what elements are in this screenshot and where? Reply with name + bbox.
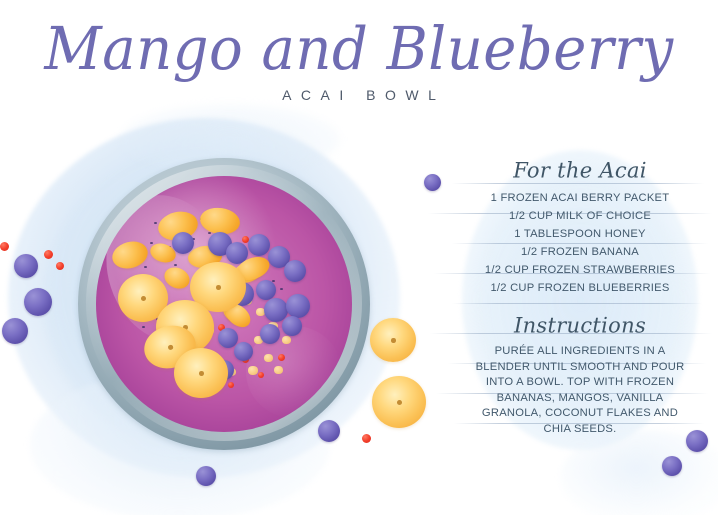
blueberry <box>286 294 310 318</box>
banana-slice <box>140 320 201 373</box>
background-wash-lower-right <box>560 430 718 515</box>
ingredient-item: 1 FROZEN ACAI BERRY PACKET <box>455 189 705 207</box>
granola-piece <box>256 308 265 316</box>
blueberry <box>214 266 236 288</box>
smoothie-highlight <box>96 179 248 359</box>
chia-seed <box>144 266 147 268</box>
red-berry <box>258 372 264 378</box>
granola-piece <box>248 366 258 375</box>
mango-piece <box>198 205 241 236</box>
granola-piece <box>238 348 248 356</box>
blueberry <box>218 328 238 348</box>
page-title: Mango and Blueberry <box>0 21 718 80</box>
red-berry-scattered <box>0 242 9 251</box>
background-wash-left-inner <box>44 150 366 450</box>
red-berry <box>278 354 285 361</box>
blueberry <box>214 360 234 380</box>
blueberry <box>234 342 253 361</box>
background-wash-left <box>8 118 400 478</box>
banana-slice-outside <box>372 376 426 428</box>
background-wash-lower-left <box>30 370 330 515</box>
chia-seed <box>200 218 203 220</box>
smoothie-base <box>96 176 352 432</box>
blueberry <box>256 280 276 300</box>
red-berry <box>200 336 206 342</box>
chia-seed <box>192 238 195 240</box>
red-berry-scattered <box>362 434 371 443</box>
granola-piece <box>190 344 200 353</box>
blueberry-scattered <box>14 254 38 278</box>
red-berry <box>242 356 249 363</box>
title-block: Mango and Blueberry ACAI BOWL <box>0 22 718 103</box>
instructions-heading: Instructions <box>455 313 705 338</box>
blueberry <box>248 234 270 256</box>
ingredient-item: 1/2 CUP MILK OF CHOICE <box>455 207 705 225</box>
chia-seed <box>148 306 151 308</box>
blueberry-scattered <box>196 466 216 486</box>
red-berry <box>228 382 234 388</box>
blueberry <box>282 316 302 336</box>
granola-piece <box>254 336 263 344</box>
red-berry <box>218 324 225 331</box>
granola-piece <box>274 366 283 374</box>
banana-slice <box>118 274 168 322</box>
mango-piece <box>187 244 223 269</box>
blueberry-scattered <box>24 288 52 316</box>
chia-seed <box>154 222 157 224</box>
granola-piece <box>282 336 291 344</box>
blueberry <box>208 232 232 256</box>
chia-seed <box>156 318 159 320</box>
granola-piece <box>228 312 237 320</box>
recipe-panel: For the Acai 1 FROZEN ACAI BERRY PACKET … <box>455 158 705 437</box>
mango-piece <box>156 208 201 244</box>
ingredients-heading: For the Acai <box>455 158 705 183</box>
ingredient-item: 1/2 CUP FROZEN BLUEBERRIES <box>455 279 705 297</box>
chia-seed <box>168 246 171 248</box>
banana-slice <box>174 348 228 398</box>
chia-seed <box>280 288 283 290</box>
granola-piece <box>268 322 278 331</box>
mango-piece <box>221 299 255 332</box>
granola-piece <box>206 358 217 367</box>
banana-slice-outside <box>370 318 416 362</box>
red-berry <box>242 236 249 243</box>
mango-piece <box>219 298 251 327</box>
blueberry <box>230 282 254 306</box>
granola-piece <box>242 296 252 305</box>
red-berry-scattered <box>56 262 64 270</box>
blueberry-scattered <box>424 174 441 191</box>
chia-seed <box>174 264 177 266</box>
mango-piece <box>148 240 178 265</box>
recipe-card: Mango and Blueberry ACAI BOWL For the Ac… <box>0 0 718 515</box>
granola-piece <box>226 368 236 376</box>
mango-piece <box>233 253 272 284</box>
chia-seed <box>150 242 153 244</box>
chia-seed <box>208 232 211 234</box>
red-berry-scattered <box>44 250 53 259</box>
chia-seed <box>142 326 145 328</box>
red-berry <box>170 354 176 360</box>
ingredient-item: 1/2 FROZEN BANANA <box>455 243 705 261</box>
ingredient-item: 1 TABLESPOON HONEY <box>455 225 705 243</box>
mango-piece <box>109 238 151 273</box>
smoothie-highlight-2 <box>246 326 342 418</box>
chia-seed <box>160 232 163 234</box>
granola-piece <box>220 338 231 347</box>
background-wash-top-center <box>120 104 340 174</box>
instructions-text: PURÉE ALL INGREDIENTS IN A BLENDER UNTIL… <box>455 344 705 437</box>
bowl-rim-highlight <box>86 165 362 441</box>
granola-piece <box>214 302 225 311</box>
chia-seed <box>140 296 143 298</box>
red-berry <box>256 258 262 264</box>
blueberry-scattered <box>662 456 682 476</box>
blueberry <box>172 232 194 254</box>
red-berry <box>158 342 165 349</box>
blueberry <box>260 324 280 344</box>
blueberry-scattered <box>318 420 340 442</box>
mango-piece <box>229 257 266 288</box>
chia-seed <box>216 224 219 226</box>
ingredient-item: 1/2 CUP FROZEN STRAWBERRIES <box>455 261 705 279</box>
blueberry <box>268 246 290 268</box>
blueberry-scattered <box>2 318 28 344</box>
banana-slice <box>190 262 246 312</box>
granola-piece <box>204 326 214 335</box>
chia-seed <box>272 280 275 282</box>
blueberry <box>264 298 288 322</box>
mango-piece <box>161 264 193 293</box>
ingredients-list: 1 FROZEN ACAI BERRY PACKET 1/2 CUP MILK … <box>455 189 705 297</box>
blueberry <box>226 242 248 264</box>
granola-piece <box>264 354 273 362</box>
blueberry <box>284 260 306 282</box>
chia-seed <box>158 258 161 260</box>
bowl-rim <box>78 158 370 450</box>
page-subtitle: ACAI BOWL <box>0 87 718 103</box>
banana-slice <box>156 300 214 354</box>
